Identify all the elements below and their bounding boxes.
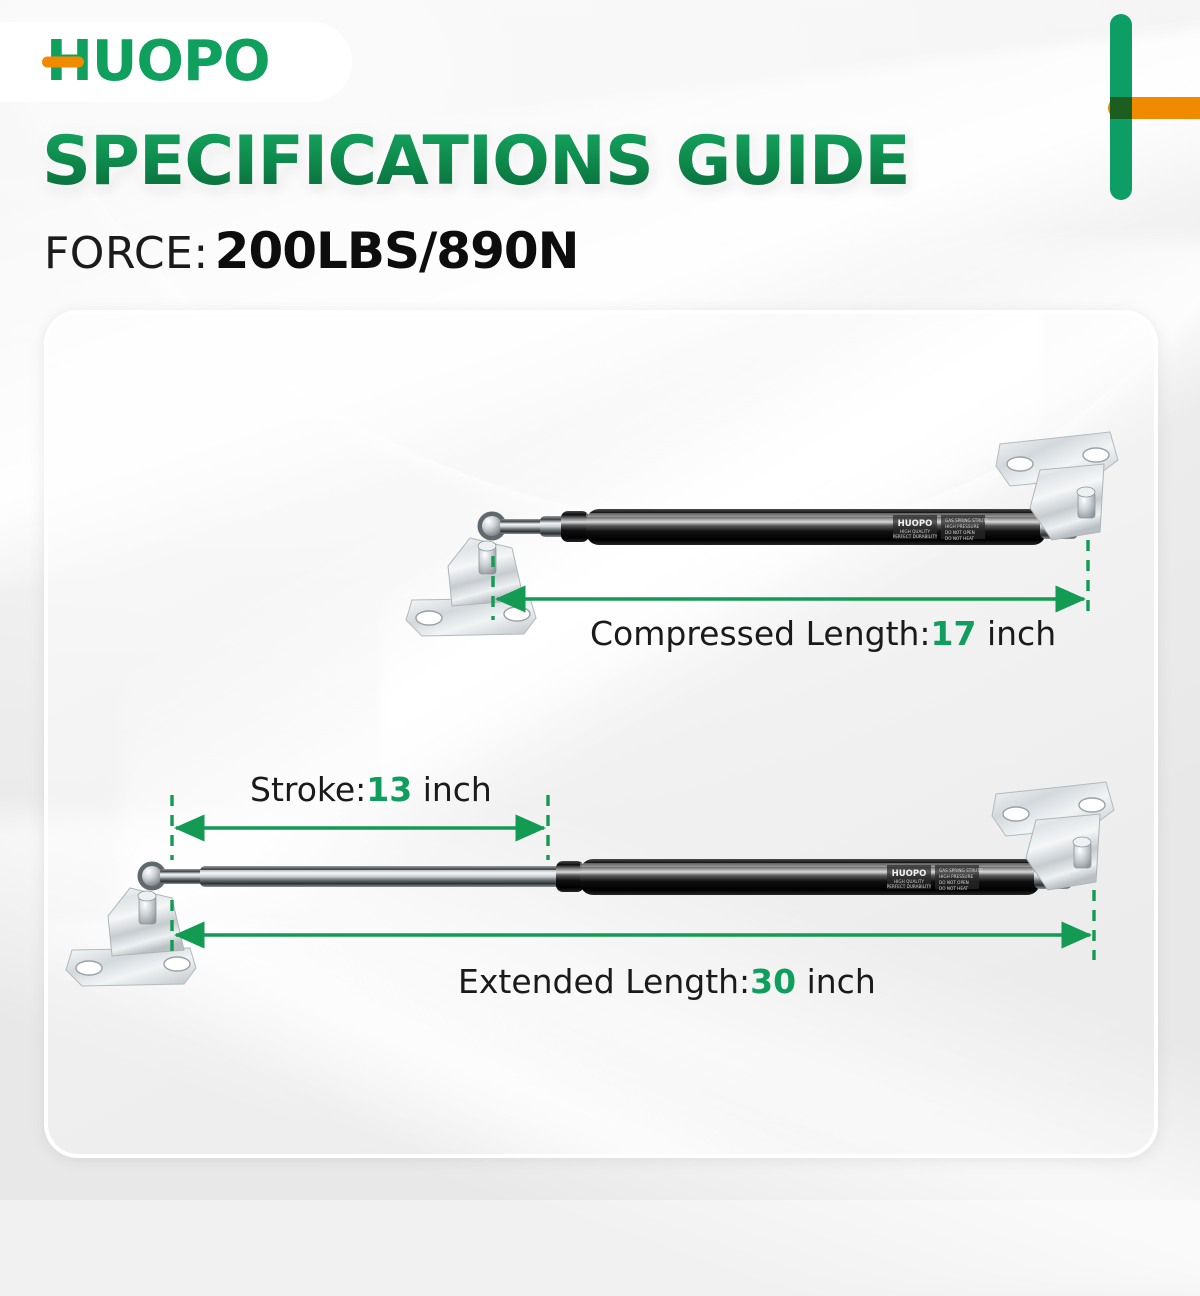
- caption-extended: Extended Length:30 inch: [458, 962, 876, 1001]
- caption-extended-prefix: Extended Length:: [458, 962, 750, 1001]
- caption-compressed: Compressed Length:17 inch: [590, 614, 1056, 653]
- page-title: SPECIFICATIONS GUIDE: [42, 128, 910, 196]
- caption-extended-unit: inch: [796, 962, 876, 1001]
- logo-wordmark-wrap: HUOPO: [46, 34, 270, 90]
- specs-card: [44, 310, 1158, 1158]
- caption-compressed-value: 17: [931, 614, 977, 653]
- caption-compressed-prefix: Compressed Length:: [590, 614, 931, 653]
- plus-accent-icon: [42, 57, 84, 68]
- force-label: FORCE:: [44, 228, 209, 279]
- decorative-plus-icon: [1070, 14, 1200, 200]
- force-value: 200LBS/890N: [215, 222, 579, 280]
- brand-logo: HUOPO: [0, 22, 352, 102]
- caption-stroke-prefix: Stroke:: [250, 770, 366, 809]
- card-glint-bottom: [44, 919, 878, 1158]
- caption-stroke: Stroke:13 inch: [250, 770, 492, 809]
- force-spec: FORCE: 200LBS/890N: [44, 222, 579, 280]
- caption-stroke-value: 13: [366, 770, 412, 809]
- caption-compressed-unit: inch: [976, 614, 1056, 653]
- plus-overlap: [1110, 97, 1132, 119]
- caption-extended-value: 30: [750, 962, 796, 1001]
- caption-stroke-unit: inch: [412, 770, 492, 809]
- card-glint-top: [380, 310, 1044, 902]
